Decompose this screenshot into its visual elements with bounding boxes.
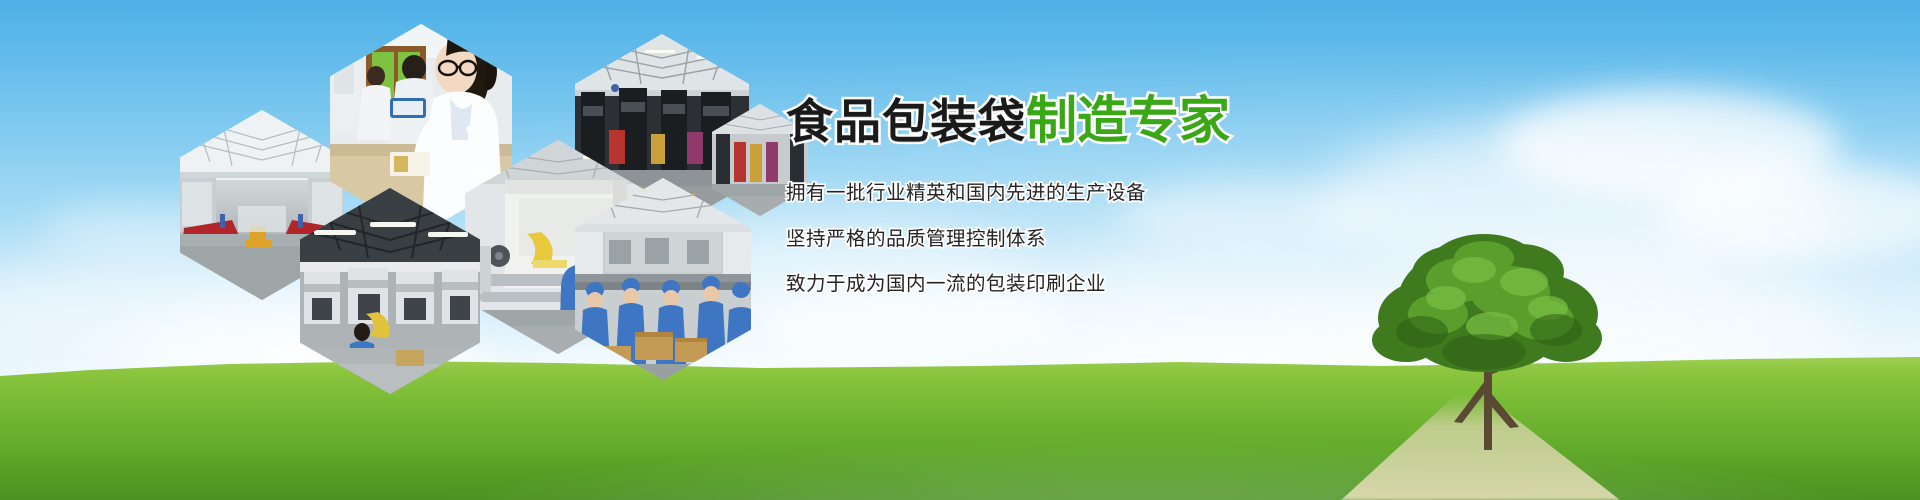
subtitle-line-2: 坚持严格的品质管理控制体系 (786, 229, 1546, 249)
headline: 食品包装袋制造专家 (786, 96, 1546, 147)
subtitle-line-3: 致力于成为国内一流的包装印刷企业 (786, 274, 1546, 294)
banner-copy: 食品包装袋制造专家 拥有一批行业精英和国内先进的生产设备 坚持严格的品质管理控制… (786, 96, 1546, 294)
headline-dark-part: 食品包装袋 (786, 95, 1026, 150)
hexagon-photo-cluster (0, 0, 820, 370)
hero-banner: 食品包装袋制造专家 拥有一批行业精英和国内先进的生产设备 坚持严格的品质管理控制… (0, 0, 1920, 500)
subtitle-list: 拥有一批行业精英和国内先进的生产设备 坚持严格的品质管理控制体系 致力于成为国内… (786, 183, 1546, 294)
headline-green-part: 制造专家 (1026, 92, 1230, 151)
subtitle-line-1: 拥有一批行业精英和国内先进的生产设备 (786, 183, 1546, 203)
